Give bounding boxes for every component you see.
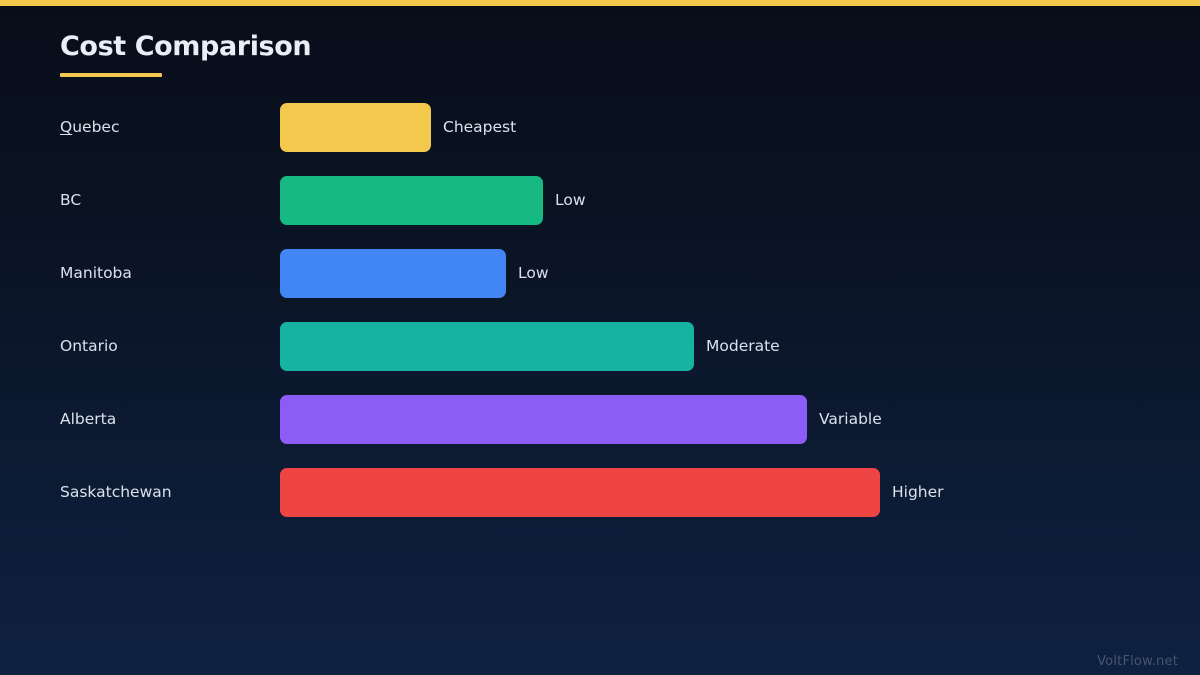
accesskey-letter: Q [60, 118, 72, 136]
bar[interactable] [280, 103, 431, 152]
bar[interactable] [280, 322, 694, 371]
bar-row-label: Manitoba [60, 249, 132, 298]
bar-value-label: Moderate [706, 322, 780, 371]
bar[interactable] [280, 468, 880, 517]
bar-value-label: Low [555, 176, 586, 225]
bar-row: SaskatchewanHigher [0, 468, 1200, 541]
bar-value-label: Cheapest [443, 103, 516, 152]
bar-row-label: Alberta [60, 395, 116, 444]
title-underline [60, 73, 162, 77]
watermark: VoltFlow.net [1097, 654, 1178, 669]
bar-track: Low [280, 176, 586, 225]
bar-row-label: Ontario [60, 322, 118, 371]
header: Cost Comparison [60, 30, 311, 77]
bar-track: Moderate [280, 322, 780, 371]
bar-row: QuebecCheapest [0, 103, 1200, 176]
bar-row-label: Saskatchewan [60, 468, 172, 517]
page-title: Cost Comparison [60, 30, 311, 64]
cost-comparison-bar-chart: QuebecCheapestBCLowManitobaLowOntarioMod… [0, 103, 1200, 541]
bar-row-label: Quebec [60, 103, 119, 152]
bar-value-label: Higher [892, 468, 944, 517]
bar-row-label-text: uebec [72, 118, 119, 136]
bar-value-label: Variable [819, 395, 882, 444]
bar-row: OntarioModerate [0, 322, 1200, 395]
bar-row: ManitobaLow [0, 249, 1200, 322]
bar-row: BCLow [0, 176, 1200, 249]
bar[interactable] [280, 249, 506, 298]
bar-track: Cheapest [280, 103, 516, 152]
bar-track: Variable [280, 395, 882, 444]
bar-value-label: Low [518, 249, 549, 298]
bar-row: AlbertaVariable [0, 395, 1200, 468]
top-accent-bar [0, 0, 1200, 6]
bar[interactable] [280, 395, 807, 444]
bar[interactable] [280, 176, 543, 225]
bar-track: Low [280, 249, 549, 298]
bar-row-label: BC [60, 176, 81, 225]
bar-track: Higher [280, 468, 944, 517]
